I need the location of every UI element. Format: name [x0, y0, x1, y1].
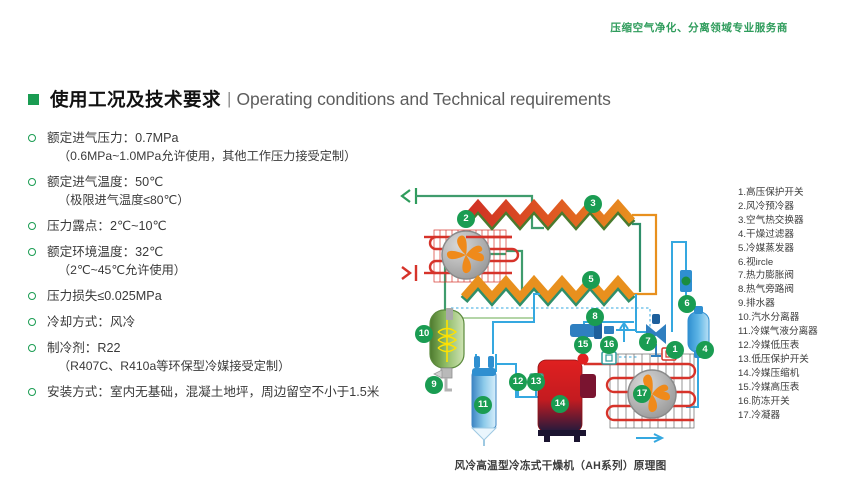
spec-main-text: 额定进气温度：50℃	[28, 174, 388, 191]
spec-main-text: 压力损失≤0.025MPa	[28, 288, 388, 305]
diagram-badge-1: 1	[666, 341, 684, 359]
spec-item: 安装方式：室内无基础，混凝土地坪，周边留空不小于1.5米	[28, 384, 388, 401]
legend-item: 7.热力膨胀阀	[738, 269, 850, 283]
diagram-badge-5: 5	[582, 271, 600, 289]
legend-item: 6.视ircle	[738, 256, 850, 270]
sensor-probe-icon	[446, 308, 453, 320]
spec-main-text: 安装方式：室内无基础，混凝土地坪，周边留空不小于1.5米	[28, 384, 388, 401]
circle-bullet-icon	[28, 248, 36, 256]
spec-item: 额定进气温度：50℃（极限进气温度≤80℃）	[28, 174, 388, 209]
legend-item: 17.冷凝器	[738, 409, 850, 423]
spec-item: 额定进气压力：0.7MPa（0.6MPa~1.0MPa允许使用，其他工作压力接受…	[28, 130, 388, 165]
diagram-badge-13: 13	[527, 373, 545, 391]
diagram-badge-12: 12	[509, 373, 527, 391]
diagram-badge-15: 15	[574, 336, 592, 354]
spec-main-text: 额定进气压力：0.7MPa	[28, 130, 388, 147]
refrigerant-evaporator-5	[464, 281, 632, 300]
diagram-badge-7: 7	[639, 333, 657, 351]
sight-glass-6	[680, 270, 692, 292]
circle-bullet-icon	[28, 318, 36, 326]
legend-item: 5.冷媒蒸发器	[738, 242, 850, 256]
circle-bullet-icon	[28, 222, 36, 230]
spec-main-text: 压力露点：2℃~10℃	[28, 218, 388, 235]
page-title-cn: 使用工况及技术要求	[50, 86, 221, 112]
diagram-badge-4: 4	[696, 341, 714, 359]
component-legend-list: 1.高压保护开关2.风冷预冷器3.空气热交换器4.干燥过滤器5.冷媒蒸发器6.视…	[738, 186, 850, 422]
diagram-badge-10: 10	[415, 325, 433, 343]
spec-main-text: 制冷剂：R22	[28, 340, 388, 357]
air-heat-exchanger-3	[464, 205, 632, 224]
port-arrows	[402, 188, 430, 281]
diagram-badge-11: 11	[474, 396, 492, 414]
spec-sub-text: （R407C、R410a等环保型冷媒接受定制）	[28, 358, 388, 375]
legend-item: 4.干燥过滤器	[738, 228, 850, 242]
outlet-label: 出口	[388, 190, 389, 204]
circle-bullet-icon	[28, 134, 36, 142]
spec-item: 压力损失≤0.025MPa	[28, 288, 388, 305]
legend-item: 9.排水器	[738, 297, 850, 311]
diagram-badge-9: 9	[425, 376, 443, 394]
legend-item: 2.风冷预冷器	[738, 200, 850, 214]
page-title-separator: |	[227, 89, 231, 109]
legend-item: 13.低压保护开关	[738, 353, 850, 367]
legend-item: 11.冷媒气液分离器	[738, 325, 850, 339]
inlet-label: 入口	[388, 268, 389, 281]
spec-main-text: 冷却方式：风冷	[28, 314, 388, 331]
orange-piping	[632, 215, 656, 294]
spec-sub-text: （极限进气温度≤80℃）	[28, 192, 388, 209]
spec-item: 压力露点：2℃~10℃	[28, 218, 388, 235]
diagram-badge-17: 17	[633, 385, 651, 403]
page-title-en: Operating conditions and Technical requi…	[236, 89, 610, 110]
high-pressure-gauge-15	[578, 354, 589, 365]
legend-item: 3.空气热交换器	[738, 214, 850, 228]
page-title: 使用工况及技术要求 | Operating conditions and Tec…	[28, 86, 611, 112]
diagram-badge-14: 14	[551, 395, 569, 413]
control-signal-lines	[450, 308, 650, 357]
principle-diagram: 出口 入口 风冷高温型冷冻式干燥机（AH系列）原理图 1234567891011…	[388, 182, 733, 482]
legend-item: 10.汽水分离器	[738, 311, 850, 325]
circle-bullet-icon	[28, 178, 36, 186]
diagram-caption: 风冷高温型冷冻式干燥机（AH系列）原理图	[388, 458, 733, 473]
spec-sub-text: （2℃~45℃允许使用）	[28, 262, 388, 279]
diagram-badge-8: 8	[586, 308, 604, 326]
hx-interconnect	[632, 224, 640, 292]
spec-main-text: 额定环境温度：32℃	[28, 244, 388, 261]
legend-item: 1.高压保护开关	[738, 186, 850, 200]
circle-bullet-icon	[28, 388, 36, 396]
circle-bullet-icon	[28, 344, 36, 352]
spec-item: 额定环境温度：32℃（2℃~45℃允许使用）	[28, 244, 388, 279]
diagram-badge-6: 6	[678, 295, 696, 313]
diagram-svg: 出口 入口	[388, 182, 733, 454]
legend-item: 8.热气旁路阀	[738, 283, 850, 297]
spec-item: 制冷剂：R22（R407C、R410a等环保型冷媒接受定制）	[28, 340, 388, 375]
diagram-badge-2: 2	[457, 210, 475, 228]
heading-square-marker	[28, 94, 39, 105]
company-tagline: 压缩空气净化、分离领域专业服务商	[610, 20, 788, 35]
spec-item: 冷却方式：风冷	[28, 314, 388, 331]
diagram-badge-16: 16	[600, 336, 618, 354]
specification-list: 额定进气压力：0.7MPa（0.6MPa~1.0MPa允许使用，其他工作压力接受…	[28, 130, 388, 410]
legend-item: 15.冷媒高压表	[738, 381, 850, 395]
spec-sub-text: （0.6MPa~1.0MPa允许使用，其他工作压力接受定制）	[28, 148, 388, 165]
circle-bullet-icon	[28, 292, 36, 300]
diagram-badge-3: 3	[584, 195, 602, 213]
legend-item: 14.冷媒压缩机	[738, 367, 850, 381]
legend-item: 12.冷媒低压表	[738, 339, 850, 353]
legend-item: 16.防冻开关	[738, 395, 850, 409]
